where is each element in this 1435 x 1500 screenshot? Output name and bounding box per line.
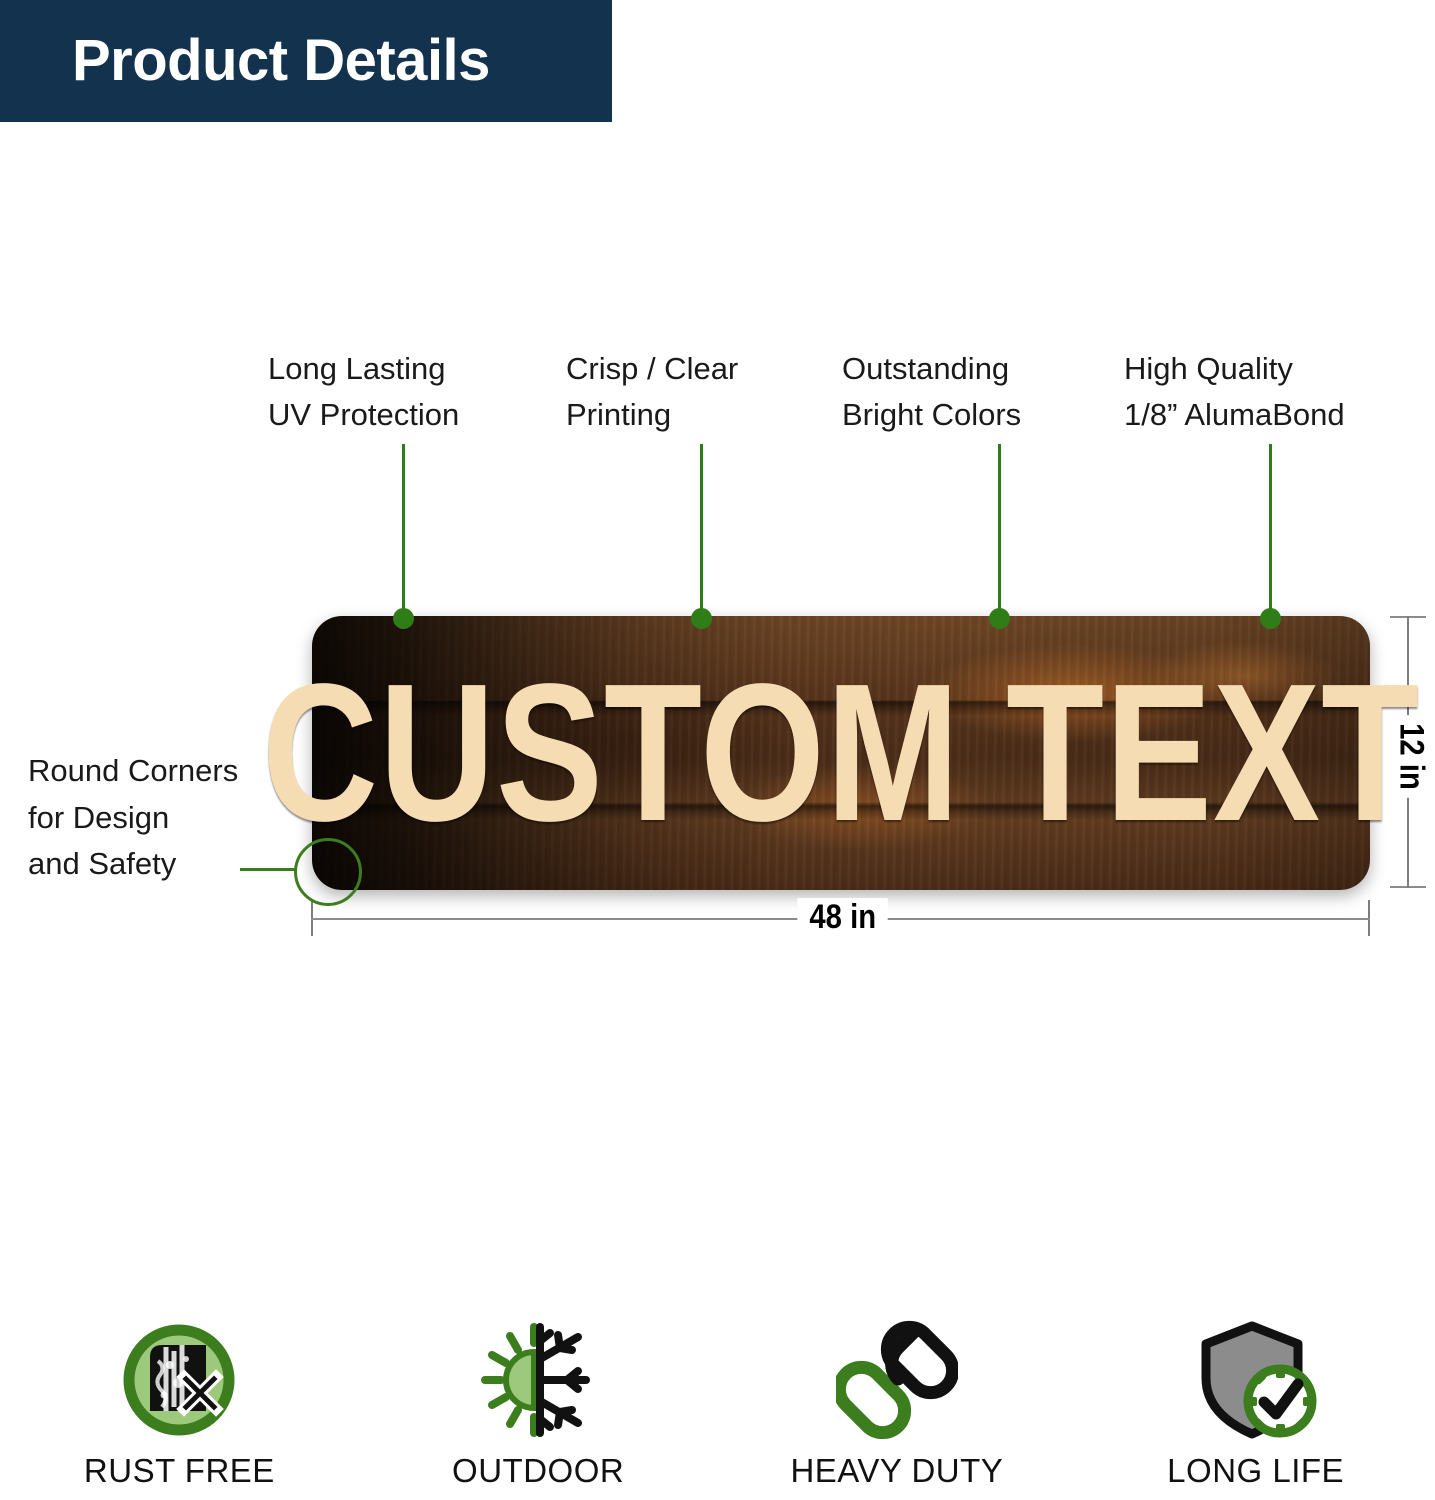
sign-custom-text: CUSTOM TEXT <box>262 669 1420 838</box>
callout-line-1: Crisp / Clear <box>566 346 738 392</box>
callout-leader-round-corners <box>240 868 296 871</box>
chain-link-icon <box>836 1320 958 1440</box>
feature-long-life: LONG LIFE <box>1076 1320 1435 1490</box>
sign-preview: CUSTOM TEXT <box>312 616 1370 890</box>
feature-label-heavy-duty: HEAVY DUTY <box>790 1452 1003 1490</box>
feature-rust-free: RUST FREE <box>0 1320 359 1490</box>
feature-label-outdoor: OUTDOOR <box>452 1452 624 1490</box>
feature-label-long-life: LONG LIFE <box>1167 1452 1344 1490</box>
callout-leader-alumabond <box>1269 444 1272 620</box>
page-title: Product Details <box>72 32 490 90</box>
feature-label-rust-free: RUST FREE <box>84 1452 275 1490</box>
corner-callout-line-2: for Design <box>28 795 238 842</box>
feature-outdoor: OUTDOOR <box>359 1320 718 1490</box>
callout-label-crisp-printing: Crisp / Clear Printing <box>566 346 738 438</box>
callout-dot-bright-colors <box>989 608 1010 629</box>
callout-line-1: Outstanding <box>842 346 1021 392</box>
callout-line-1: High Quality <box>1124 346 1345 392</box>
corner-callout-line-3: and Safety <box>28 841 238 888</box>
callout-label-bright-colors: Outstanding Bright Colors <box>842 346 1021 438</box>
callout-label-alumabond: High Quality 1/8” AlumaBond <box>1124 346 1345 438</box>
callout-leader-bright-colors <box>998 444 1001 620</box>
callout-line-2: Printing <box>566 392 738 438</box>
sign-text-container: CUSTOM TEXT <box>312 616 1370 890</box>
callout-line-2: Bright Colors <box>842 392 1021 438</box>
callout-leader-crisp-printing <box>700 444 703 620</box>
callout-label-uv-protection: Long Lasting UV Protection <box>268 346 459 438</box>
corner-callout-line-1: Round Corners <box>28 748 238 795</box>
rust-free-icon <box>120 1320 238 1440</box>
sun-snowflake-icon <box>474 1320 602 1440</box>
header-banner: Product Details <box>0 0 612 122</box>
feature-heavy-duty: HEAVY DUTY <box>718 1320 1077 1490</box>
callout-line-2: UV Protection <box>268 392 459 438</box>
callout-leader-uv-protection <box>402 444 405 620</box>
callout-line-2: 1/8” AlumaBond <box>1124 392 1345 438</box>
callout-dot-alumabond <box>1260 608 1281 629</box>
callout-line-1: Long Lasting <box>268 346 459 392</box>
shield-clock-icon <box>1194 1320 1318 1440</box>
callout-dot-crisp-printing <box>691 608 712 629</box>
feature-list: RUST FREE <box>0 1320 1435 1490</box>
callout-dot-uv-protection <box>393 608 414 629</box>
round-corner-highlight-ring <box>294 838 362 906</box>
callout-label-round-corners: Round Corners for Design and Safety <box>28 748 238 888</box>
dim-label-width: 48 in <box>797 898 888 937</box>
